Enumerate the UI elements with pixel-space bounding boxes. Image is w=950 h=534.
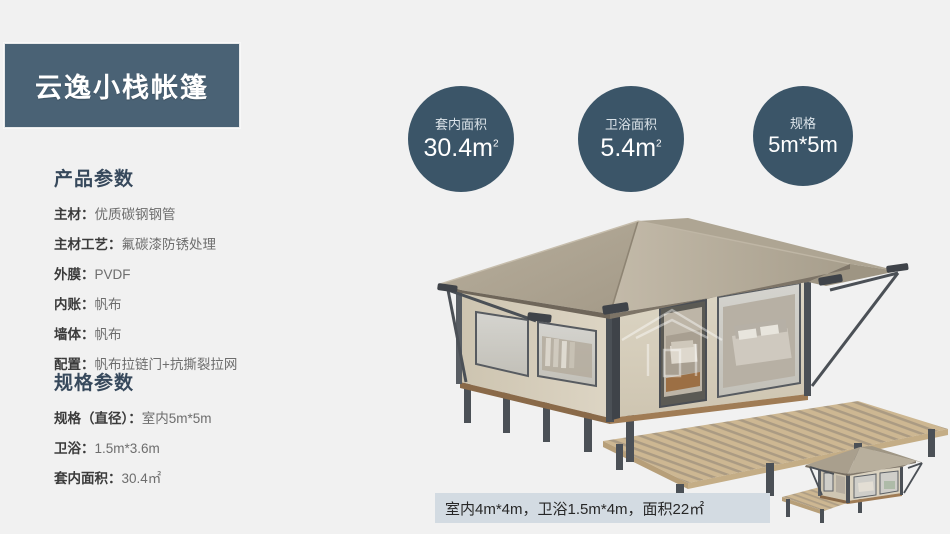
spec-label: 主材工艺：	[54, 237, 122, 252]
spec-label: 规格（直径）：	[54, 411, 142, 426]
section-heading-size: 规格参数	[54, 368, 212, 395]
caption-text: 室内4m*4m，卫浴1.5m*4m，面积22㎡	[445, 498, 704, 519]
spec-row: 内账：帆布	[54, 290, 237, 320]
spec-row: 墙体：帆布	[54, 320, 237, 350]
spec-label: 内账：	[54, 297, 95, 312]
badge-value: 30.4m2	[423, 135, 498, 161]
spec-row: 卫浴：1.5m*3.6m	[54, 434, 212, 464]
spec-label: 外膜：	[54, 267, 95, 282]
spec-label: 套内面积：	[54, 471, 122, 486]
spec-label: 主材：	[54, 207, 95, 222]
secondary-tent-thumbnail	[772, 443, 932, 525]
spec-label: 墙体：	[54, 327, 95, 342]
badge-value: 5.4m2	[600, 135, 661, 161]
spec-value: 帆布	[95, 297, 122, 312]
spec-value: 1.5m*3.6m	[95, 441, 160, 456]
spec-row: 主材：优质碳钢钢管	[54, 200, 237, 230]
badge-label: 套内面积	[435, 117, 487, 133]
size-parameters-section: 规格参数 规格（直径）：室内5m*5m 卫浴：1.5m*3.6m 套内面积：30…	[54, 368, 212, 494]
section-heading-product: 产品参数	[54, 164, 237, 191]
spec-label: 卫浴：	[54, 441, 95, 456]
spec-value: PVDF	[95, 267, 131, 282]
stat-badge-dimensions: 规格 5m*5m	[753, 86, 853, 186]
title-banner: 云逸小栈帐篷	[4, 43, 240, 128]
caption-band: 室内4m*4m，卫浴1.5m*4m，面积22㎡	[435, 493, 770, 523]
product-parameters-section: 产品参数 主材：优质碳钢钢管 主材工艺：氟碳漆防锈处理 外膜：PVDF 内账：帆…	[54, 164, 237, 380]
spec-value: 30.4㎡	[122, 471, 162, 486]
badge-label: 规格	[790, 116, 816, 132]
product-title: 云逸小栈帐篷	[35, 66, 209, 105]
product-spec-page: 云逸小栈帐篷 产品参数 主材：优质碳钢钢管 主材工艺：氟碳漆防锈处理 外膜：PV…	[0, 0, 950, 534]
spec-row: 外膜：PVDF	[54, 260, 237, 290]
spec-row: 规格（直径）：室内5m*5m	[54, 404, 212, 434]
badge-value: 5m*5m	[768, 133, 838, 156]
stat-badge-interior-area: 套内面积 30.4m2	[408, 86, 514, 192]
badge-label: 卫浴面积	[605, 117, 657, 133]
stat-badge-bathroom-area: 卫浴面积 5.4m2	[578, 86, 684, 192]
spec-row: 套内面积：30.4㎡	[54, 464, 212, 494]
spec-row: 主材工艺：氟碳漆防锈处理	[54, 230, 237, 260]
spec-value: 帆布	[95, 327, 122, 342]
spec-value: 优质碳钢钢管	[95, 207, 176, 222]
spec-value: 室内5m*5m	[142, 411, 212, 426]
spec-value: 氟碳漆防锈处理	[122, 237, 217, 252]
